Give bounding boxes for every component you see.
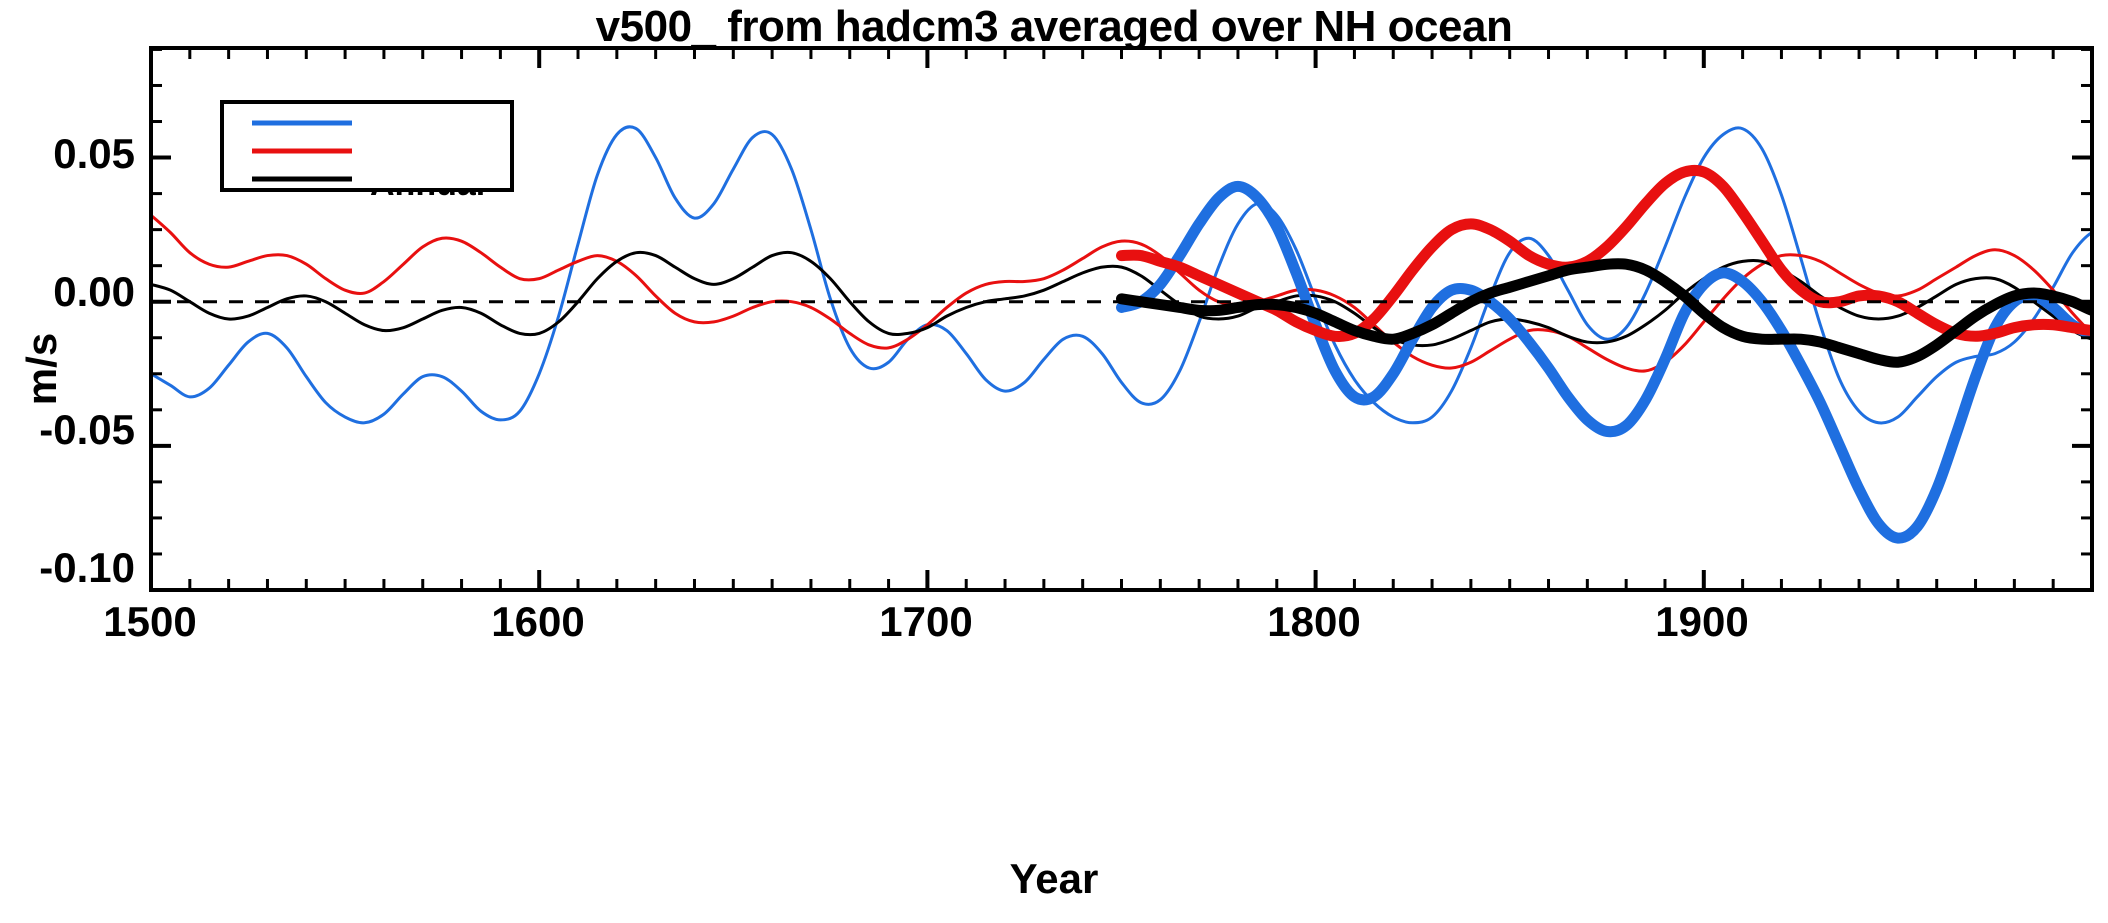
chart-root: v500_ from hadcm3 averaged over NH ocean…: [0, 0, 2108, 923]
plot-svg: [0, 0, 2108, 923]
series-line: [1122, 48, 2108, 538]
series-line: [1122, 151, 2108, 363]
legend-layer: [222, 102, 512, 190]
plot-area: [0, 0, 2108, 923]
series-line: [1122, 160, 2108, 336]
